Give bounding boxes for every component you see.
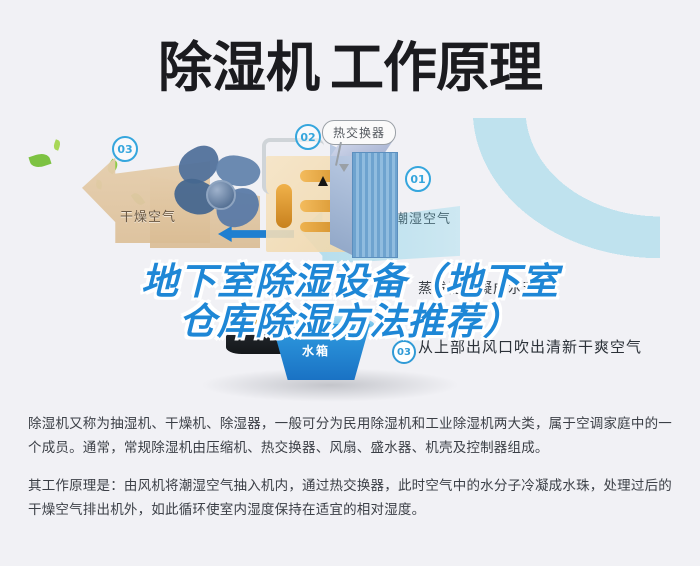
heat-exchanger-fins [352,152,398,258]
dry-air-label: 干燥空气 [120,206,176,225]
dehumidifier-principle-diagram: 03 干燥空气 01 潮湿空气 02 热交换器 [0,118,700,408]
title-part2: 工作原理 [330,36,542,99]
step-badge-02-heat-exchanger: 02 [295,124,321,150]
evaporator-caption: 蒸发器冷凝成水珠 [418,278,538,298]
body-paragraph-2: 其工作原理是：由风机将潮湿空气抽入机内，通过热交换器，此时空气中的水分子冷凝成水… [28,474,672,522]
fan-illustration [172,146,264,242]
heat-exchanger-callout: 热交换器 [322,120,396,145]
title-text: 除湿机工作原理 [158,41,542,95]
step-badge-03-dry-air: 03 [112,136,138,162]
leaf-icon [28,151,51,170]
water-tank-label: 水箱 [302,342,330,359]
leaf-icon [52,139,61,150]
fan-hub [206,180,236,210]
title-part1: 除湿机 [158,36,320,99]
step-badge-03-outlet: 03 [392,340,416,364]
compressor-cylinder [276,184,292,228]
article-image: 除湿机工作原理 03 干燥空气 01 潮湿空气 [0,0,700,566]
humid-air-label: 潮湿空气 [395,208,451,227]
callout-pointer-icon [339,164,349,172]
step-badge-01-humid-air: 01 [405,166,431,192]
article-body: 除湿机又称为抽湿机、干燥机、除湿器，一般可分为民用除湿机和工业除湿机两大类，属于… [0,412,700,536]
page-title: 除湿机工作原理 [0,24,700,112]
outlet-caption: 从上部出风口吹出清新干爽空气 [418,336,642,357]
body-paragraph-1: 除湿机又称为抽湿机、干燥机、除湿器，一般可分为民用除湿机和工业除湿机两大类，属于… [28,412,672,460]
flow-arrow-icon [318,176,328,186]
